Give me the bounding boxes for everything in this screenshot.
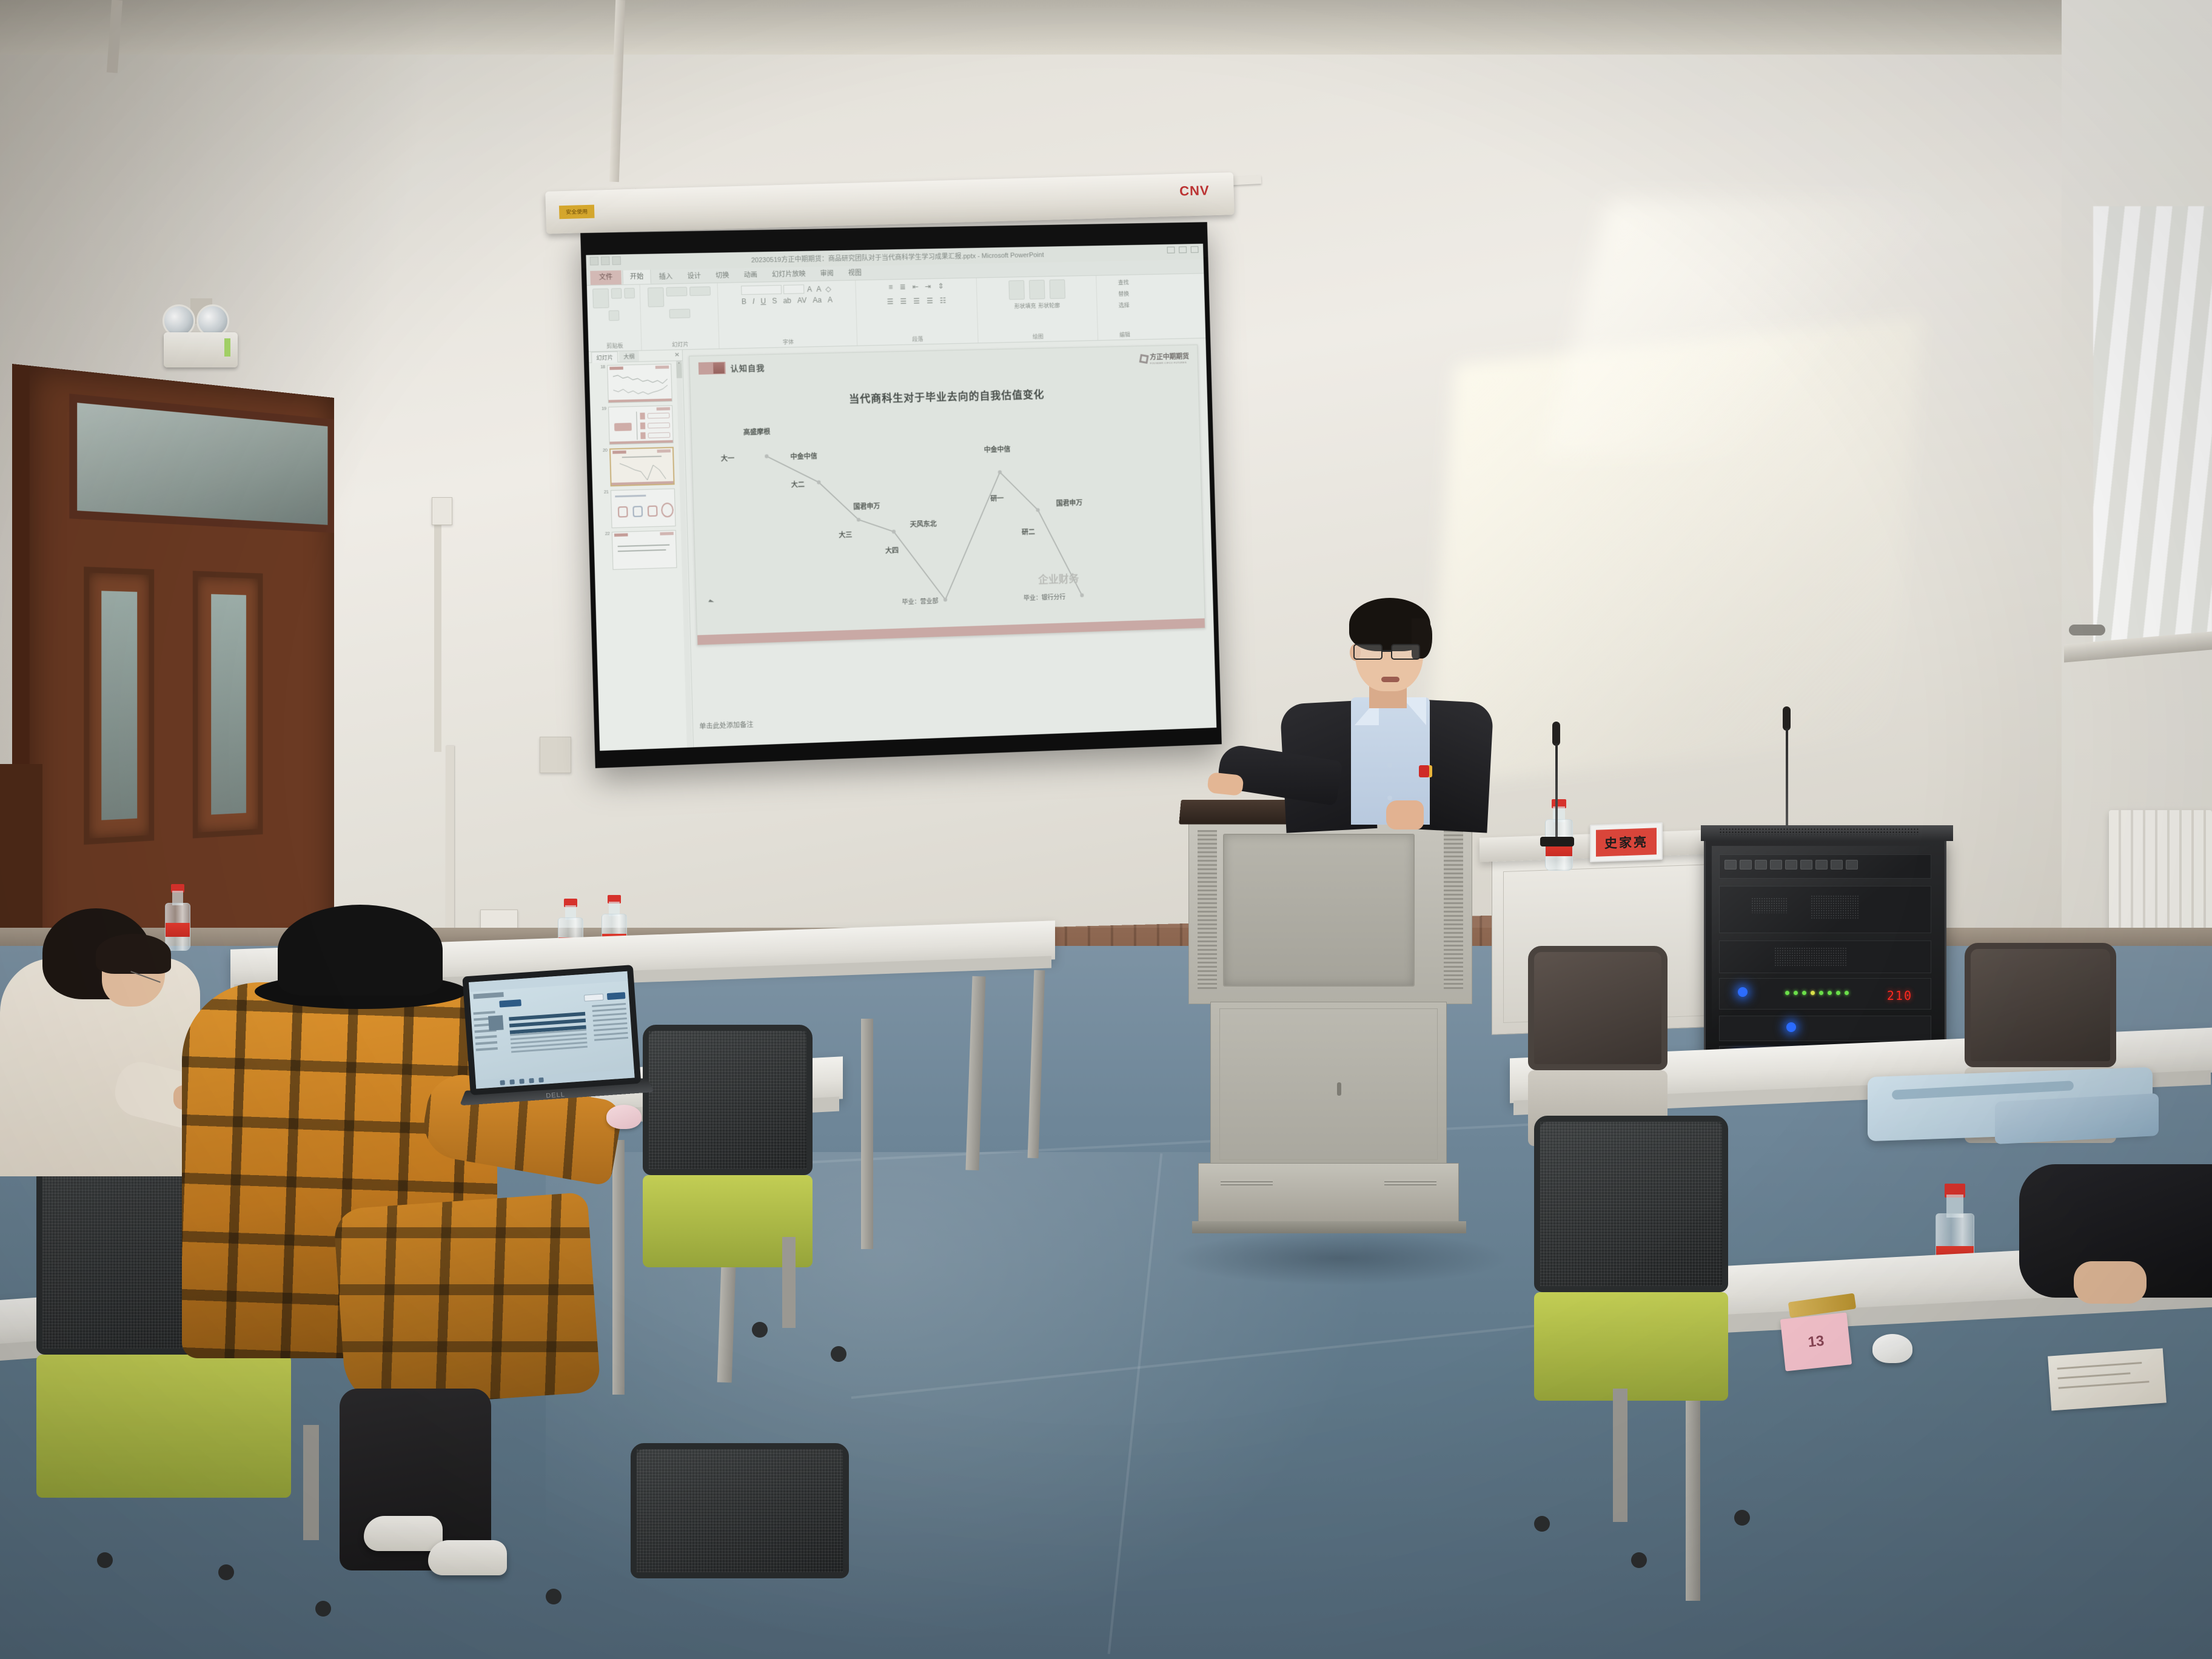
slide-thumbnail-selected[interactable] — [609, 447, 675, 486]
plaid-jacket-lower — [333, 1192, 601, 1409]
chair-caster — [546, 1589, 561, 1604]
tab-file[interactable]: 文件 — [590, 269, 622, 285]
tab-animations[interactable]: 动画 — [737, 267, 764, 282]
table-leg — [612, 1140, 625, 1395]
rack-glass-door[interactable] — [1712, 846, 1939, 1071]
ribbon-group-slides[interactable]: 幻灯片 — [640, 283, 720, 350]
cut-icon[interactable] — [611, 288, 622, 299]
chart-value-label: 天风东北 — [910, 519, 936, 529]
increase-indent-icon[interactable]: ⇥ — [923, 282, 932, 290]
chair-seat — [1534, 1292, 1728, 1401]
lens-left — [1353, 644, 1382, 660]
justify-icon[interactable]: ☰ — [925, 297, 934, 305]
slide-thumbnails-panel[interactable]: 幻灯片 大纲 ✕ 18 — [589, 350, 694, 751]
wireless-mouse[interactable] — [606, 1105, 642, 1129]
font-color-icon[interactable]: A — [826, 295, 834, 304]
zoom-slider[interactable] — [1167, 732, 1199, 736]
chair-mesh — [649, 1031, 806, 1169]
podium-foot — [1192, 1221, 1466, 1233]
tab-outline-pane[interactable]: 大纲 — [619, 351, 639, 362]
windowsill-object — [2069, 625, 2105, 635]
scrollbar-thumb[interactable] — [676, 363, 682, 378]
sunlight-patch-secondary — [1545, 200, 1936, 455]
thumb-logo — [657, 407, 671, 411]
ribbon-group-label-drawing: 绘图 — [978, 331, 1098, 341]
lectern-podium[interactable] — [1188, 799, 1480, 1254]
paper-line — [2058, 1372, 2131, 1379]
chart-line-svg — [691, 405, 1204, 634]
podium-vent-left — [1221, 1179, 1273, 1185]
chair-caster — [752, 1322, 768, 1338]
copy-icon[interactable] — [624, 288, 635, 299]
zoom-slider-knob[interactable] — [1178, 731, 1181, 737]
slide-thumbnail[interactable] — [612, 530, 677, 570]
character-spacing-icon[interactable]: AV — [796, 296, 808, 304]
thumb-chevron — [640, 432, 645, 439]
list-item[interactable]: 21 — [602, 488, 686, 529]
thumb-title-line — [615, 495, 646, 497]
classroom-scene: 安全使用 CNV 20230519方正中期期货：商品研究团队对于当代商科学生学习… — [0, 0, 2212, 1659]
laptop-screen[interactable] — [469, 971, 635, 1089]
chart-endpoint-label: 毕业：营业部 — [902, 596, 938, 606]
thumb-logo — [655, 366, 669, 369]
wall-socket-upper[interactable] — [432, 497, 452, 525]
sticky-note-pad[interactable]: 13 — [1780, 1312, 1852, 1371]
microphone-stem — [1786, 728, 1788, 833]
right-hand — [1386, 800, 1424, 829]
office-chair[interactable] — [1534, 1116, 1728, 1401]
taskbar-icon[interactable] — [519, 1079, 525, 1084]
tab-view[interactable]: 视图 — [841, 266, 868, 280]
chair-backrest — [631, 1443, 849, 1578]
tab-slideshow[interactable]: 幻灯片放映 — [765, 267, 813, 282]
underline-icon[interactable]: U — [759, 297, 767, 306]
chair-caster — [218, 1564, 234, 1580]
microphone-head-icon — [1783, 706, 1791, 731]
student-hair-front — [96, 934, 171, 974]
microphone-stem — [1555, 743, 1558, 839]
list-item[interactable]: 18 — [598, 363, 682, 403]
chart-value-label: 中金中信 — [984, 444, 1011, 454]
student-hand-right-edge — [2074, 1261, 2147, 1304]
chart-stage-label: 大四 — [885, 546, 899, 556]
chair-backrest — [1528, 946, 1667, 1070]
shadow-icon[interactable]: S — [771, 297, 779, 305]
shapes-gallery-icon[interactable] — [1008, 280, 1025, 300]
table-leg — [861, 1019, 873, 1249]
lens-right — [1391, 644, 1420, 660]
chart-value-label: 国君申万 — [853, 501, 880, 511]
restore-icon[interactable] — [1179, 246, 1187, 253]
journal-logo — [488, 1015, 504, 1031]
thumb-logo — [657, 449, 671, 453]
notes-placeholder[interactable]: 单击此处添加备注 — [699, 699, 1208, 745]
list-item[interactable]: 20 — [600, 446, 685, 486]
minimize-icon[interactable] — [1167, 247, 1175, 253]
layout-icon[interactable] — [666, 287, 687, 297]
theme-name: "Office 主题" — [672, 749, 700, 751]
current-slide[interactable]: 认知自我 方正中期期货 FOUNDER CIFCO FUTURES 当代商科生对… — [689, 344, 1205, 646]
arrange-icon[interactable] — [1028, 280, 1045, 299]
ppt-workspace: 幻灯片 大纲 ✕ 18 — [589, 338, 1216, 751]
clear-format-icon[interactable]: ◇ — [824, 284, 833, 293]
tab-slides-pane[interactable]: 幻灯片 — [591, 351, 618, 363]
font-family-select[interactable] — [741, 285, 782, 295]
name-plate-text: 史家亮 — [1596, 828, 1657, 856]
chair-caster — [831, 1346, 846, 1362]
office-chair[interactable] — [643, 1025, 813, 1267]
close-icon[interactable] — [1191, 246, 1199, 253]
reset-icon[interactable] — [689, 286, 711, 296]
article-sidebar — [592, 1003, 628, 1044]
ribbon-group-clipboard[interactable]: 剪贴板 — [587, 285, 642, 352]
shape-outline-label[interactable]: 形状轮廓 — [1038, 301, 1060, 310]
numbering-icon[interactable]: ≣ — [898, 283, 907, 291]
window-controls[interactable] — [1167, 246, 1199, 253]
bottle-label — [166, 923, 190, 937]
slide-counter: 幻灯片 第 20 张，共 28 张 — [603, 750, 661, 751]
ribbon-group-label-editing: 编辑 — [1098, 330, 1152, 339]
thumb-text-line — [618, 545, 670, 548]
slide-header-text: 认知自我 — [730, 361, 765, 374]
slide-number: 22 — [602, 532, 609, 537]
reading-view-icon[interactable] — [1132, 733, 1137, 738]
zoom-in-icon[interactable]: ⊕ — [1202, 731, 1206, 736]
ppt-window-title: 20230519方正中期期货：商品研究团队对于当代商科学生学习成果汇报.pptx… — [751, 250, 1044, 265]
thumb-chip — [648, 423, 670, 429]
chair-seat — [36, 1355, 291, 1498]
podium-grille-left — [1198, 830, 1217, 989]
ribbon-group-label-clipboard: 剪贴板 — [588, 341, 641, 350]
thumb-chevron — [640, 423, 645, 429]
slide-chart: 高盛摩根 大一 中金中信 大二 国君申万 大三 天风东北 大四 毕业：营业部 中… — [691, 405, 1204, 634]
font-size-select[interactable] — [783, 284, 805, 294]
undo-icon[interactable] — [601, 256, 610, 265]
chair-caster — [1734, 1510, 1750, 1526]
tab-home[interactable]: 开始 — [622, 269, 651, 284]
door-glass-left — [101, 591, 137, 820]
thumb-chip — [648, 413, 670, 419]
thumb-footer-bar — [610, 440, 673, 444]
bold-icon[interactable]: B — [740, 297, 748, 306]
thumb-hexagon — [618, 506, 628, 518]
chart-value-label: 中金中信 — [790, 451, 817, 461]
bullets-icon[interactable]: ≡ — [887, 283, 894, 291]
slideshow-icon[interactable] — [1139, 733, 1144, 738]
chart-value-label: 国君申万 — [1056, 497, 1083, 508]
replace-label[interactable]: 替换 — [1118, 289, 1129, 297]
folded-garment[interactable] — [1995, 1093, 2159, 1144]
chair-mesh — [637, 1449, 843, 1572]
door-glass-right — [211, 594, 246, 815]
thumb-text-line — [618, 549, 666, 552]
tab-insert[interactable]: 插入 — [652, 269, 679, 284]
shirt-button — [1387, 763, 1392, 768]
chair-gas-lift — [782, 1237, 796, 1328]
paper-line — [2057, 1362, 2142, 1370]
wall-conduit-upper — [434, 509, 441, 752]
site-logo — [473, 992, 503, 999]
align-center-icon[interactable]: ☰ — [899, 297, 908, 306]
podium-door-handle[interactable] — [1337, 1082, 1341, 1096]
thumb-hexagon — [648, 506, 658, 517]
slide-header: 认知自我 — [699, 361, 765, 375]
thumb-box — [614, 423, 632, 431]
slide-title: 当代商科生对于毕业去向的自我估值变化 — [691, 382, 1198, 409]
party-emblem-badge — [1419, 765, 1432, 777]
chair-mesh — [1540, 1122, 1722, 1286]
thumb-line-chart — [608, 370, 672, 399]
status-right-cluster[interactable]: 56% ⊖ ⊕ ▣ — [1116, 730, 1213, 739]
quick-access-toolbar[interactable] — [590, 256, 621, 266]
paste-icon[interactable] — [592, 289, 609, 309]
eyeglasses-icon — [1353, 644, 1429, 660]
list-item[interactable]: 22 — [602, 530, 686, 571]
bucket-hat — [278, 905, 443, 996]
taskbar-icon[interactable] — [500, 1080, 505, 1085]
mouth — [1381, 677, 1399, 682]
wall-conduit — [446, 746, 454, 946]
podium-cabinet-door[interactable] — [1219, 1008, 1438, 1160]
zoom-level: 56% — [1147, 732, 1157, 739]
tab-transitions[interactable]: 切换 — [709, 268, 736, 283]
shrink-font-icon[interactable]: A — [815, 284, 822, 293]
dell-laptop[interactable]: DELL — [462, 964, 653, 1116]
glasses-bridge — [1382, 650, 1391, 652]
laptop-lid — [462, 965, 641, 1095]
rack-vent-mesh — [1719, 828, 1919, 835]
bottle-body — [165, 903, 190, 951]
thumb-hexagon — [632, 506, 643, 517]
thumb-header-chip — [614, 533, 628, 537]
bar-chart-icon — [713, 363, 725, 374]
screen-brand-logo: CNV — [1179, 183, 1210, 199]
chart-stage-label: 大三 — [839, 530, 853, 540]
tab-review[interactable]: 审阅 — [813, 266, 840, 281]
align-left-icon[interactable]: ☰ — [886, 297, 895, 306]
chair-caster — [97, 1552, 113, 1568]
strikethrough-icon[interactable]: ab — [782, 297, 793, 305]
podium-cabinet[interactable] — [1210, 1002, 1447, 1165]
thumb-header-chip — [609, 367, 623, 370]
laptop-brand: DELL — [546, 1091, 565, 1099]
save-icon[interactable] — [590, 256, 599, 265]
slide-brand-logo: 方正中期期货 FOUNDER CIFCO FUTURES — [1139, 351, 1189, 365]
wall-plate[interactable] — [540, 737, 571, 773]
chart-endpoint-label: 毕业：银行分行 — [1024, 592, 1066, 602]
zoom-out-icon[interactable]: ⊖ — [1160, 732, 1164, 737]
logo-text: 方正中期期货 — [1150, 351, 1189, 361]
chair-gas-lift — [303, 1425, 319, 1540]
slide-number: 20 — [600, 449, 608, 454]
presenter — [1225, 600, 1492, 831]
thumb-title-line — [622, 456, 662, 458]
slide-number: 21 — [602, 490, 609, 495]
ribbon-group-label-font: 字体 — [719, 337, 857, 347]
slide-thumbnail[interactable] — [611, 488, 676, 528]
grow-font-icon[interactable]: A — [806, 284, 813, 293]
tab-design[interactable]: 设计 — [680, 269, 708, 283]
slide-thumbnail[interactable] — [608, 405, 674, 444]
ribbon-group-drawing[interactable]: 形状填充 形状轮廓 绘图 — [977, 276, 1099, 343]
podium-front-inset — [1223, 834, 1415, 987]
office-chair[interactable] — [631, 1443, 849, 1659]
format-painter-icon[interactable] — [609, 310, 620, 321]
status-divider: | — [705, 749, 706, 751]
primary-action-button[interactable] — [499, 999, 521, 1007]
roller-warning-label: 安全使用 — [559, 205, 595, 220]
microphone-head-icon — [1552, 722, 1560, 746]
emergency-light — [159, 298, 250, 371]
chair-caster — [315, 1601, 331, 1617]
ribbon-group-label-paragraph: 段落 — [857, 333, 978, 344]
water-bottle[interactable] — [1545, 799, 1573, 871]
secondary-action-button[interactable] — [584, 994, 604, 1002]
thumb-circle — [661, 503, 674, 518]
chart-stage-label: 研一 — [990, 493, 1004, 503]
browser-toolbar[interactable] — [469, 971, 628, 992]
taskbar-icon[interactable] — [529, 1078, 534, 1084]
left-hand — [1207, 772, 1244, 796]
sneaker — [364, 1516, 443, 1551]
redo-icon[interactable] — [612, 256, 621, 265]
italic-icon[interactable]: I — [751, 297, 756, 306]
water-bottle[interactable] — [165, 884, 190, 951]
slide-number: 19 — [599, 407, 606, 412]
taskbar-icon[interactable] — [538, 1078, 544, 1083]
download-button[interactable] — [607, 992, 626, 1000]
thumb-divider — [636, 412, 637, 440]
chair-backrest — [643, 1025, 813, 1175]
chair-caster — [1534, 1516, 1550, 1532]
podium-base — [1198, 1163, 1459, 1225]
chart-stage-label: 研二 — [1022, 526, 1035, 537]
shape-fill-label[interactable]: 形状填充 — [1014, 302, 1036, 310]
thumb-footer-bar — [609, 398, 672, 403]
powerpoint-window[interactable]: 20230519方正中期期货：商品研究团队对于当代商科学生学习成果汇报.pptx… — [586, 244, 1216, 751]
ribbon-group-label-slides: 幻灯片 — [642, 340, 719, 349]
chair-backrest — [1534, 1116, 1728, 1292]
taskbar-icon[interactable] — [509, 1079, 515, 1085]
podium-grille-right — [1444, 830, 1463, 989]
decrease-indent-icon[interactable]: ⇤ — [911, 282, 919, 290]
podium-vent-right — [1384, 1179, 1436, 1185]
shirt-button — [1387, 796, 1392, 800]
emergency-light-led — [224, 338, 230, 357]
sneaker — [428, 1540, 507, 1575]
earbuds-case[interactable] — [1872, 1334, 1912, 1363]
door-transom-glass — [69, 394, 334, 533]
window-curtain — [2093, 206, 2212, 643]
align-right-icon[interactable]: ☰ — [912, 297, 921, 305]
chart-ghost-annotation: 企业财务 — [1038, 570, 1079, 586]
slide-sorter-icon[interactable] — [1124, 734, 1129, 739]
normal-view-icon[interactable] — [1116, 734, 1121, 739]
quick-styles-icon[interactable] — [1049, 280, 1065, 299]
logo-mark-icon — [1139, 354, 1149, 363]
microphone-base — [1540, 837, 1574, 846]
fit-to-window-icon[interactable]: ▣ — [1208, 730, 1213, 736]
paper-stack[interactable] — [2048, 1348, 2167, 1410]
chair-caster — [1631, 1552, 1647, 1568]
list-item[interactable]: 19 — [599, 405, 683, 445]
chart-stage-label: 大一 — [721, 454, 735, 464]
new-slide-icon[interactable] — [647, 287, 663, 307]
thumb-chevron — [640, 412, 645, 419]
thumb-logo — [660, 532, 674, 535]
thumb-header-chip — [612, 451, 626, 454]
language-indicator[interactable]: 中文(中国) — [711, 748, 734, 751]
change-case-icon[interactable]: Aa — [811, 296, 823, 304]
ribbon-group-editing[interactable]: 查找 替换 选择 编辑 — [1096, 275, 1151, 340]
slide-editor-area[interactable]: 认知自我 方正中期期货 FOUNDER CIFCO FUTURES 当代商科生对… — [683, 338, 1217, 747]
podium-front-panel — [1188, 821, 1472, 1004]
slide-thumbnail[interactable] — [607, 364, 672, 403]
chair-gas-lift — [1613, 1389, 1627, 1522]
thumb-chip — [648, 432, 671, 438]
ribbon-group-paragraph[interactable]: ≡ ≣ ⇤ ⇥ ⇕ ☰ ☰ ☰ ☰ ☷ 段落 — [856, 278, 978, 346]
name-plate: 史家亮 — [1590, 822, 1663, 862]
section-icon[interactable] — [669, 309, 690, 318]
find-label[interactable]: 查找 — [1118, 278, 1129, 286]
columns-icon[interactable]: ☷ — [938, 297, 947, 305]
ribbon-group-font[interactable]: A A ◇ B I U S ab AV Aa A 字体 — [718, 281, 858, 349]
rack-top-cap — [1701, 825, 1953, 841]
line-spacing-icon[interactable]: ⇕ — [936, 282, 945, 290]
projection-screen: 20230519方正中期期货：商品研究团队对于当代商科学生学习成果汇报.pptx… — [580, 222, 1222, 768]
select-label[interactable]: 选择 — [1119, 301, 1130, 309]
paper-line — [2059, 1381, 2150, 1389]
logo-subtext: FOUNDER CIFCO FUTURES — [1150, 361, 1190, 364]
close-icon[interactable]: ✕ — [674, 352, 680, 358]
article-body — [510, 1029, 588, 1056]
chair-backrest — [1965, 943, 2116, 1067]
chart-value-label: 高盛摩根 — [743, 426, 771, 437]
chart-stage-label: 大二 — [791, 480, 805, 490]
slide-number: 18 — [598, 365, 605, 370]
